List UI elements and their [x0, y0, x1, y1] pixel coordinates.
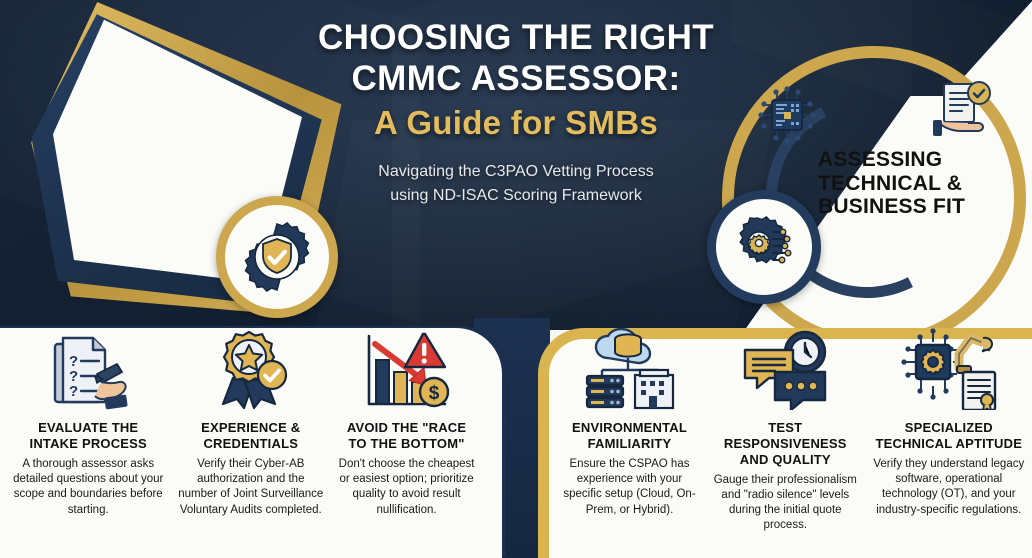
subtitle-line-1: Navigating the C3PAO Vetting Process [256, 160, 776, 184]
card-specialized-technical-aptitude: SPECIALIZED TECHNICAL APTITUDE Verify th… [866, 318, 1032, 558]
gear-shield-icon [240, 220, 314, 294]
hand-document-check-icon [932, 80, 998, 142]
svg-text:$: $ [428, 383, 439, 404]
bottom-section: ??? EVALUATE THE INTAKE PROCESS A thorou… [0, 318, 1032, 558]
title-line-1: CHOOSING THE RIGHT [256, 18, 776, 59]
card-title: TEST RESPONSIVENESS AND QUALITY [711, 420, 860, 468]
card-title: AVOID THE "RACE TO THE BOTTOM" [337, 420, 476, 452]
subtitle: Navigating the C3PAO Vetting Process usi… [256, 160, 776, 208]
card-body: Don't choose the cheapest or easiest opt… [337, 457, 476, 518]
gear-circuit-badge [707, 190, 821, 304]
card-body: Verify their Cyber-AB authorization and … [176, 457, 325, 518]
gear-shield-check-badge [216, 196, 338, 318]
chip-robot-arm-certificate-icon [872, 318, 1026, 414]
title-line-2: CMMC ASSESSOR: [256, 59, 776, 100]
card-experience-credentials: EXPERIENCE & CREDENTIALS Verify their Cy… [170, 318, 331, 558]
card-body: Verify they understand legacy software, … [872, 457, 1026, 518]
circuit-chip-icon [756, 84, 818, 146]
questionnaire-hand-pen-icon: ??? [12, 318, 164, 414]
card-body: Ensure the CSPAO has experience with you… [560, 457, 699, 518]
declining-bar-chart-warning-icon: $ [337, 318, 476, 414]
right-section-label: ASSESSING TECHNICAL & BUSINESS FIT [818, 148, 978, 219]
card-title: EVALUATE THE INTAKE PROCESS [12, 420, 164, 452]
infographic-poster: CHOOSING THE RIGHT CMMC ASSESSOR: A Guid… [0, 0, 1032, 558]
card-body: Gauge their professionalism and "radio s… [711, 473, 860, 534]
card-body: A thorough assessor asks detailed questi… [12, 457, 164, 518]
chat-bubbles-clock-icon [711, 318, 860, 414]
card-title: EXPERIENCE & CREDENTIALS [176, 420, 325, 452]
card-title: ENVIRONMENTAL FAMILIARITY [560, 420, 699, 452]
card-title: SPECIALIZED TECHNICAL APTITUDE [872, 420, 1026, 452]
gear-circuit-icon [729, 212, 799, 282]
title-block: CHOOSING THE RIGHT CMMC ASSESSOR: A Guid… [256, 18, 776, 208]
svg-text:?: ? [69, 383, 78, 400]
card-evaluate-intake-process: ??? EVALUATE THE INTAKE PROCESS A thorou… [6, 318, 170, 558]
card-test-responsiveness: TEST RESPONSIVENESS AND QUALITY Gauge th… [705, 318, 866, 558]
criteria-cards-row: ??? EVALUATE THE INTAKE PROCESS A thorou… [0, 318, 1032, 558]
award-ribbon-check-icon [176, 318, 325, 414]
title-accent-line: A Guide for SMBs [256, 101, 776, 146]
cloud-server-building-icon [560, 318, 699, 414]
subtitle-line-2: using ND-ISAC Scoring Framework [256, 184, 776, 208]
card-avoid-race-to-bottom: $ AVOID THE "RACE TO THE BOTTOM" Don't c… [331, 318, 482, 558]
card-environmental-familiarity: ENVIRONMENTAL FAMILIARITY Ensure the CSP… [554, 318, 705, 558]
